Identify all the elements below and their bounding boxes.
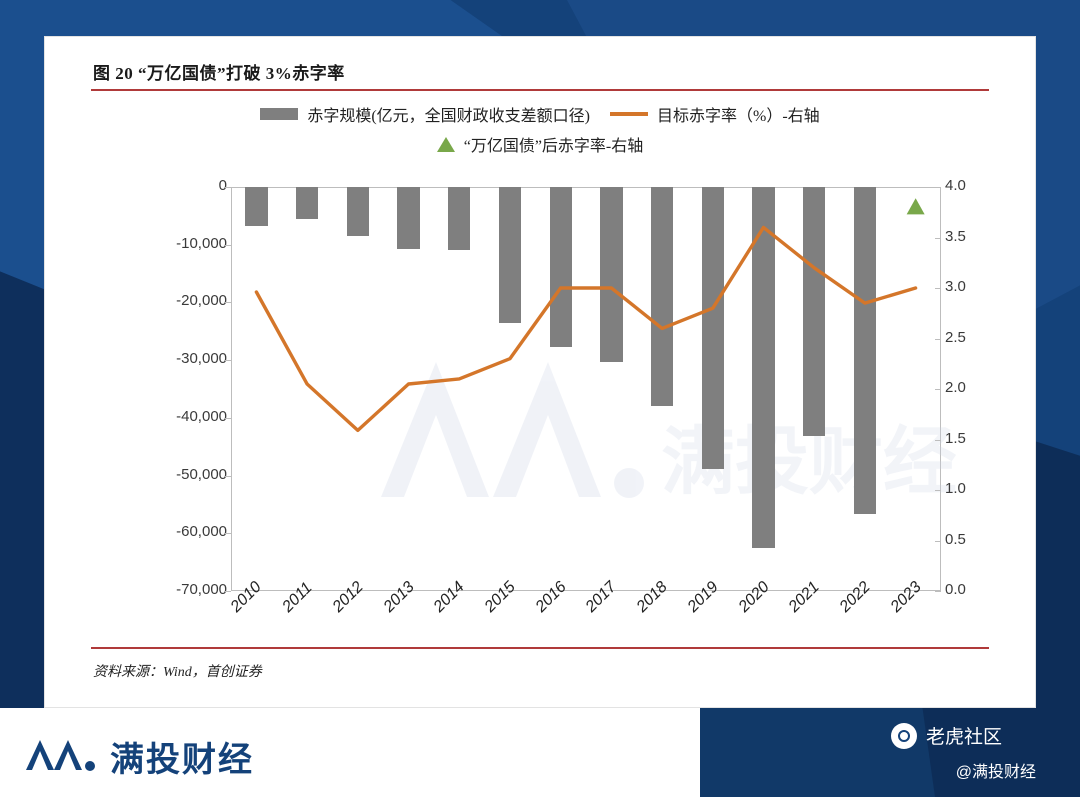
tiger-icon xyxy=(891,723,917,749)
tiger-community-badge: 老虎社区 xyxy=(891,722,1002,749)
line-series-layer xyxy=(231,187,941,591)
legend-label-point: “万亿国债”后赤字率-右轴 xyxy=(464,132,644,156)
legend-item-line: 目标赤字率（%）-右轴 xyxy=(610,102,820,126)
right-tick-mark xyxy=(935,490,941,491)
x-label-slot: 2010 xyxy=(231,597,282,661)
x-label-slot: 2014 xyxy=(434,597,485,661)
left-tick-mark xyxy=(225,245,231,246)
figure-title: 图 20 “万亿国债”打破 3%赤字率 xyxy=(93,59,995,84)
x-label-slot: 2022 xyxy=(840,597,891,661)
x-label-slot: 2011 xyxy=(282,597,333,661)
x-label-slot: 2020 xyxy=(738,597,789,661)
right-tick-mark xyxy=(935,238,941,239)
left-tick-mark xyxy=(225,302,231,303)
right-tick-label: 0.0 xyxy=(945,581,966,598)
right-tick-mark xyxy=(935,591,941,592)
chart-legend: 赤字规模(亿元，全国财政收支差额口径) 目标赤字率（%）-右轴 “万亿国债”后赤… xyxy=(45,99,1035,165)
chart-plot-area: 满投财经 0-10,000-20,000-30,000-40,000-50,00… xyxy=(45,165,1037,665)
post-bond-rate-markers xyxy=(907,198,925,214)
x-label-slot: 2016 xyxy=(535,597,586,661)
right-tick-mark xyxy=(935,288,941,289)
legend-label-bar: 赤字规模(亿元，全国财政收支差额口径) xyxy=(307,102,590,126)
right-tick-label: 3.0 xyxy=(945,278,966,295)
x-label-slot: 2018 xyxy=(637,597,688,661)
x-label-slot: 2015 xyxy=(485,597,536,661)
figure-source: 资料来源：Wind，首创证券 xyxy=(93,661,262,681)
left-tick-label: -30,000 xyxy=(119,350,227,367)
x-label-slot: 2023 xyxy=(890,597,941,661)
left-tick-label: -40,000 xyxy=(119,408,227,425)
right-tick-label: 4.0 xyxy=(945,177,966,194)
plot-frame: 满投财经 0-10,000-20,000-30,000-40,000-50,00… xyxy=(231,187,941,591)
left-tick-mark xyxy=(225,418,231,419)
right-tick-label: 1.0 xyxy=(945,480,966,497)
right-tick-mark xyxy=(935,541,941,542)
x-axis-labels: 2010201120122013201420152016201720182019… xyxy=(231,597,941,661)
manto-logo-icon xyxy=(24,734,98,774)
left-tick-label: -70,000 xyxy=(119,581,227,598)
x-label-slot: 2017 xyxy=(586,597,637,661)
right-tick-label: 1.5 xyxy=(945,430,966,447)
left-tick-mark xyxy=(225,360,231,361)
title-divider xyxy=(91,89,989,91)
x-label-slot: 2019 xyxy=(687,597,738,661)
x-label-slot: 2021 xyxy=(789,597,840,661)
bar-swatch-icon xyxy=(260,108,298,120)
tiger-community-label: 老虎社区 xyxy=(926,722,1002,749)
line-swatch-icon xyxy=(610,112,648,116)
legend-item-point: “万亿国债”后赤字率-右轴 xyxy=(437,132,644,156)
left-tick-label: 0 xyxy=(119,177,227,194)
left-tick-mark xyxy=(225,476,231,477)
right-tick-label: 2.5 xyxy=(945,329,966,346)
left-tick-label: -20,000 xyxy=(119,292,227,309)
footer-handle: @满投财经 xyxy=(956,758,1036,782)
footer-social-area: 老虎社区 @满投财经 xyxy=(700,708,1080,797)
x-label-slot: 2012 xyxy=(332,597,383,661)
left-tick-mark xyxy=(225,187,231,188)
legend-item-bar: 赤字规模(亿元，全国财政收支差额口径) xyxy=(260,102,590,126)
slide-footer: 满投财经 老虎社区 @满投财经 xyxy=(0,708,1080,797)
left-tick-label: -10,000 xyxy=(119,235,227,252)
right-tick-label: 0.5 xyxy=(945,531,966,548)
right-tick-label: 3.5 xyxy=(945,228,966,245)
right-tick-mark xyxy=(935,389,941,390)
legend-label-line: 目标赤字率（%）-右轴 xyxy=(657,102,820,126)
footer-brand-area: 满投财经 xyxy=(0,708,700,797)
right-tick-mark xyxy=(935,440,941,441)
left-tick-label: -50,000 xyxy=(119,466,227,483)
deficit-rate-line xyxy=(256,227,915,430)
left-tick-mark xyxy=(225,591,231,592)
left-tick-mark xyxy=(225,533,231,534)
right-tick-label: 2.0 xyxy=(945,379,966,396)
triangle-swatch-icon xyxy=(437,137,455,152)
right-tick-mark xyxy=(935,339,941,340)
footer-brand-text: 满投财经 xyxy=(110,732,254,781)
marker-2023 xyxy=(907,198,925,214)
right-tick-mark xyxy=(935,187,941,188)
left-tick-label: -60,000 xyxy=(119,523,227,540)
figure-card: 图 20 “万亿国债”打破 3%赤字率 赤字规模(亿元，全国财政收支差额口径) … xyxy=(44,36,1036,708)
source-divider xyxy=(91,647,989,649)
x-label-slot: 2013 xyxy=(383,597,434,661)
